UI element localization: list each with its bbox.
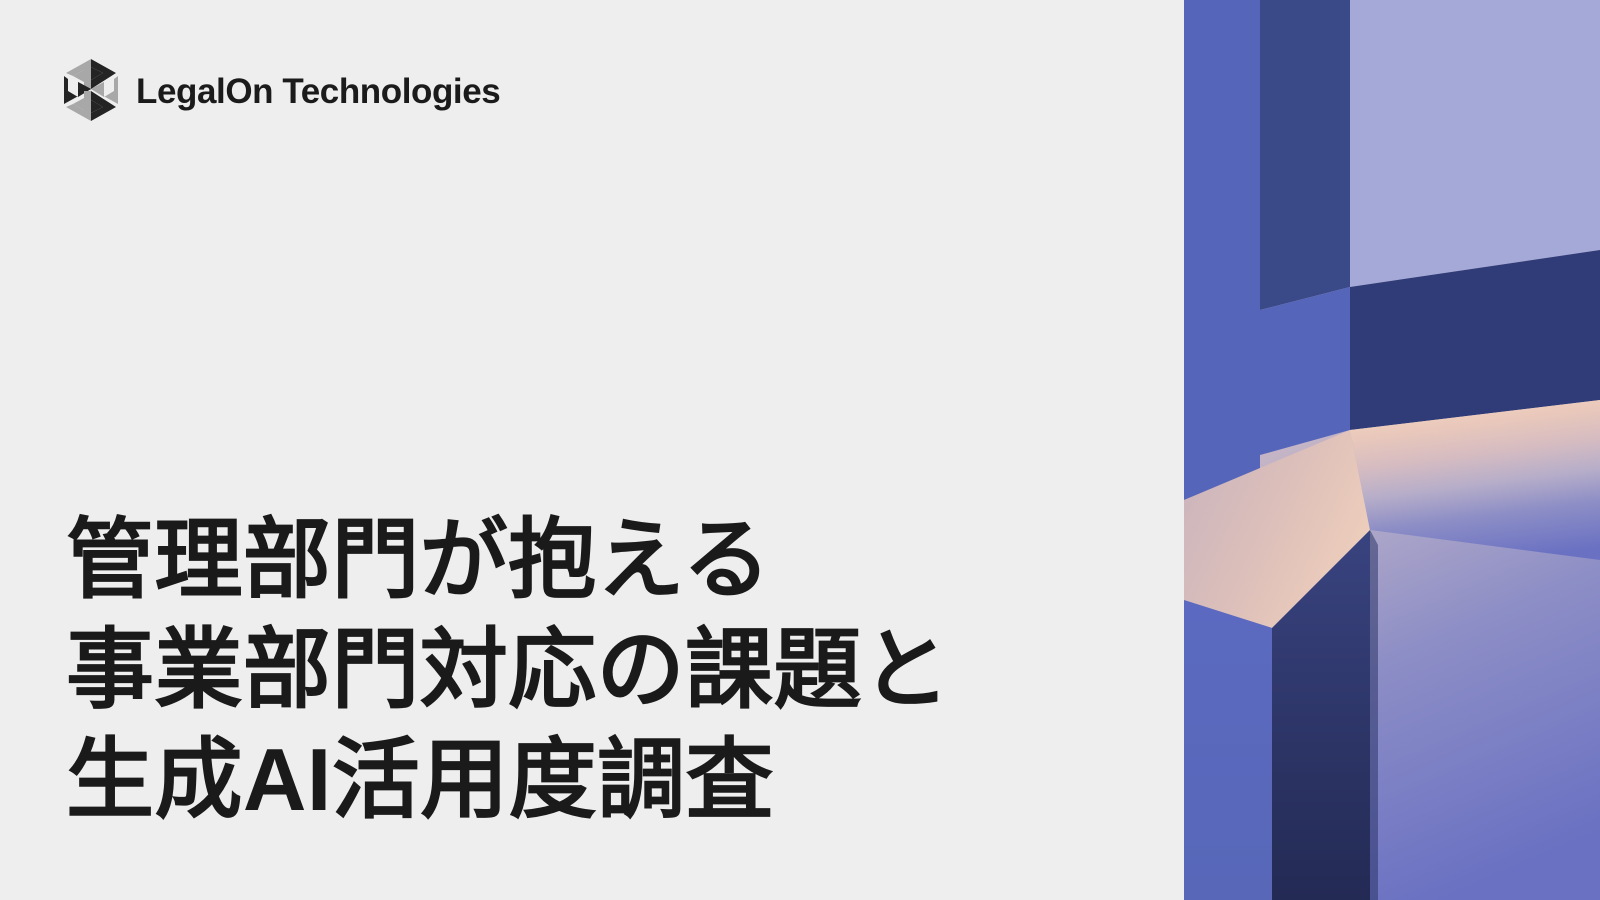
column-dark-face [1260, 0, 1350, 310]
brand-name-text: LegalOn Technologies [136, 74, 500, 109]
headline-line-3: 生成AI活用度調査 [66, 725, 1076, 835]
artwork-left-gutter [1142, 0, 1184, 900]
lavender-panel [1350, 0, 1600, 287]
slide-root: LegalOn Technologies 管理部門が抱える 事業部門対応の課題と… [0, 0, 1600, 900]
headline-line-1: 管理部門が抱える [66, 505, 1076, 615]
column-bevel [1260, 287, 1350, 455]
headline-line-2: 事業部門対応の課題と [66, 615, 1076, 725]
brand-lockup: LegalOn Technologies [62, 58, 500, 122]
pillar-edge-highlight [1370, 530, 1378, 900]
column-lit-face [1184, 0, 1260, 500]
pillar-lit-side [1184, 600, 1272, 900]
page-title: 管理部門が抱える 事業部門対応の課題と 生成AI活用度調査 [66, 505, 1076, 835]
legalon-hexagon-logo-icon [62, 58, 120, 122]
isometric-architecture-graphic [1142, 0, 1600, 900]
